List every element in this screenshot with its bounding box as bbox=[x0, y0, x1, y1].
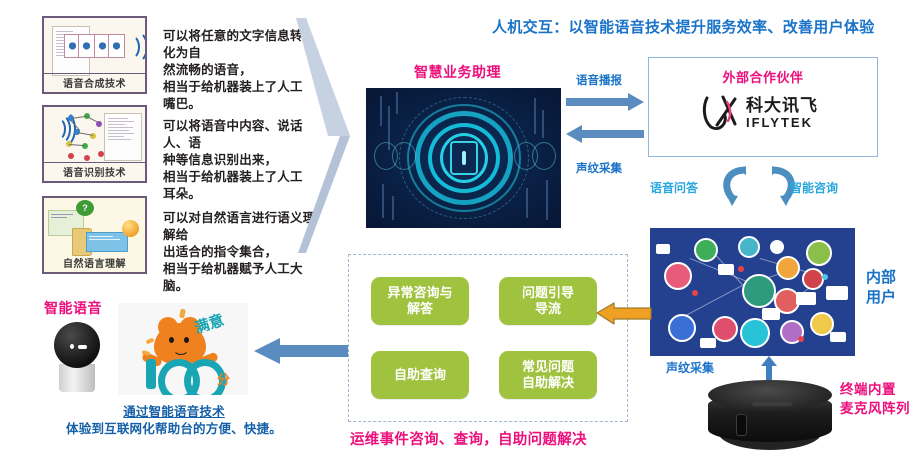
device-label: 终端内置 麦克风阵列 bbox=[840, 380, 910, 418]
mascot-fen-text: 分 bbox=[217, 369, 230, 388]
page-title: 人机交互：以智能语音技术提升服务效率、改善用户体验 bbox=[492, 16, 875, 37]
card-caption: 语音合成技术 bbox=[44, 73, 145, 90]
label-voice-qa: 语音问答 bbox=[650, 179, 698, 196]
internal-users-network-image bbox=[650, 228, 855, 356]
solution-button-faq-self-solve[interactable]: 常见问题 自助解决 bbox=[499, 351, 597, 399]
iflytek-logo: 科大讯飞 IFLYTEK bbox=[701, 94, 818, 132]
voice-visualization bbox=[366, 88, 561, 228]
smart-voice-caption: 通过智能语音技术 体验到互联网化帮助台的方便、快捷。 bbox=[44, 404, 304, 438]
label-voiceprint-capture-device: 声纹采集 bbox=[666, 359, 714, 376]
arrow-left-to-speaker bbox=[254, 336, 348, 366]
card-speech-recognition: 语音识别技术 bbox=[42, 105, 147, 183]
card-natural-language: ? 自然语言理解 bbox=[42, 196, 147, 274]
solution-button-abnormal-consult[interactable]: 异常咨询与 解答 bbox=[371, 277, 469, 325]
microphone-array-device-icon bbox=[700, 378, 840, 454]
internal-users-line2: 用户 bbox=[866, 288, 896, 308]
label-smart-consult: 智能咨询 bbox=[790, 179, 838, 196]
solution-button-self-query[interactable]: 自助查询 bbox=[371, 351, 469, 399]
arrow-right-broadcast bbox=[566, 93, 644, 111]
caption-line-1: 通过智能语音技术 bbox=[44, 404, 304, 421]
device-label-line2: 麦克风阵列 bbox=[840, 399, 910, 418]
arrow-left-voiceprint bbox=[566, 125, 644, 143]
internal-users-label: 内部 用户 bbox=[866, 268, 896, 308]
smart-speaker-icon bbox=[46, 320, 108, 396]
device-label-line1: 终端内置 bbox=[840, 380, 910, 399]
iflytek-logo-en: IFLYTEK bbox=[746, 115, 818, 130]
internal-users-line1: 内部 bbox=[866, 268, 896, 288]
partner-title: 外部合作伙伴 bbox=[649, 67, 877, 86]
mascot-100-image: 满意 分 bbox=[118, 303, 248, 395]
smart-voice-label: 智能语音 bbox=[44, 298, 102, 318]
label-voiceprint-capture: 声纹采集 bbox=[576, 160, 622, 176]
caption-line-2: 体验到互联网化帮助台的方便、快捷。 bbox=[44, 421, 304, 438]
mascot-cn-text: 满意 bbox=[191, 309, 226, 338]
slide-canvas: 语音合成技术 可以将任意的文字信息转化为自 然流畅的语音， 相当于给机器装上了人… bbox=[0, 0, 916, 461]
assistant-title: 智慧业务助理 bbox=[414, 62, 501, 82]
solution-button-problem-guidance[interactable]: 问题引导 导流 bbox=[499, 277, 597, 325]
card-speech-synthesis: 语音合成技术 bbox=[42, 16, 147, 94]
card-caption: 自然语言理解 bbox=[44, 255, 145, 270]
chevron-right-arrow bbox=[288, 18, 368, 253]
card-caption: 语音识别技术 bbox=[44, 162, 145, 179]
arrow-left-orange bbox=[596, 300, 652, 326]
external-partner-panel: 外部合作伙伴 科大讯飞 IFLYTEK bbox=[648, 57, 878, 157]
solution-panel: 异常咨询与 解答 问题引导 导流 自助查询 常见问题 自助解决 bbox=[348, 254, 628, 422]
solution-caption: 运维事件咨询、查询，自助问题解决 bbox=[350, 428, 587, 449]
label-voice-broadcast: 语音播报 bbox=[576, 72, 622, 88]
iflytek-logo-cn: 科大讯飞 bbox=[746, 97, 818, 115]
iflytek-mark-icon bbox=[701, 94, 741, 132]
